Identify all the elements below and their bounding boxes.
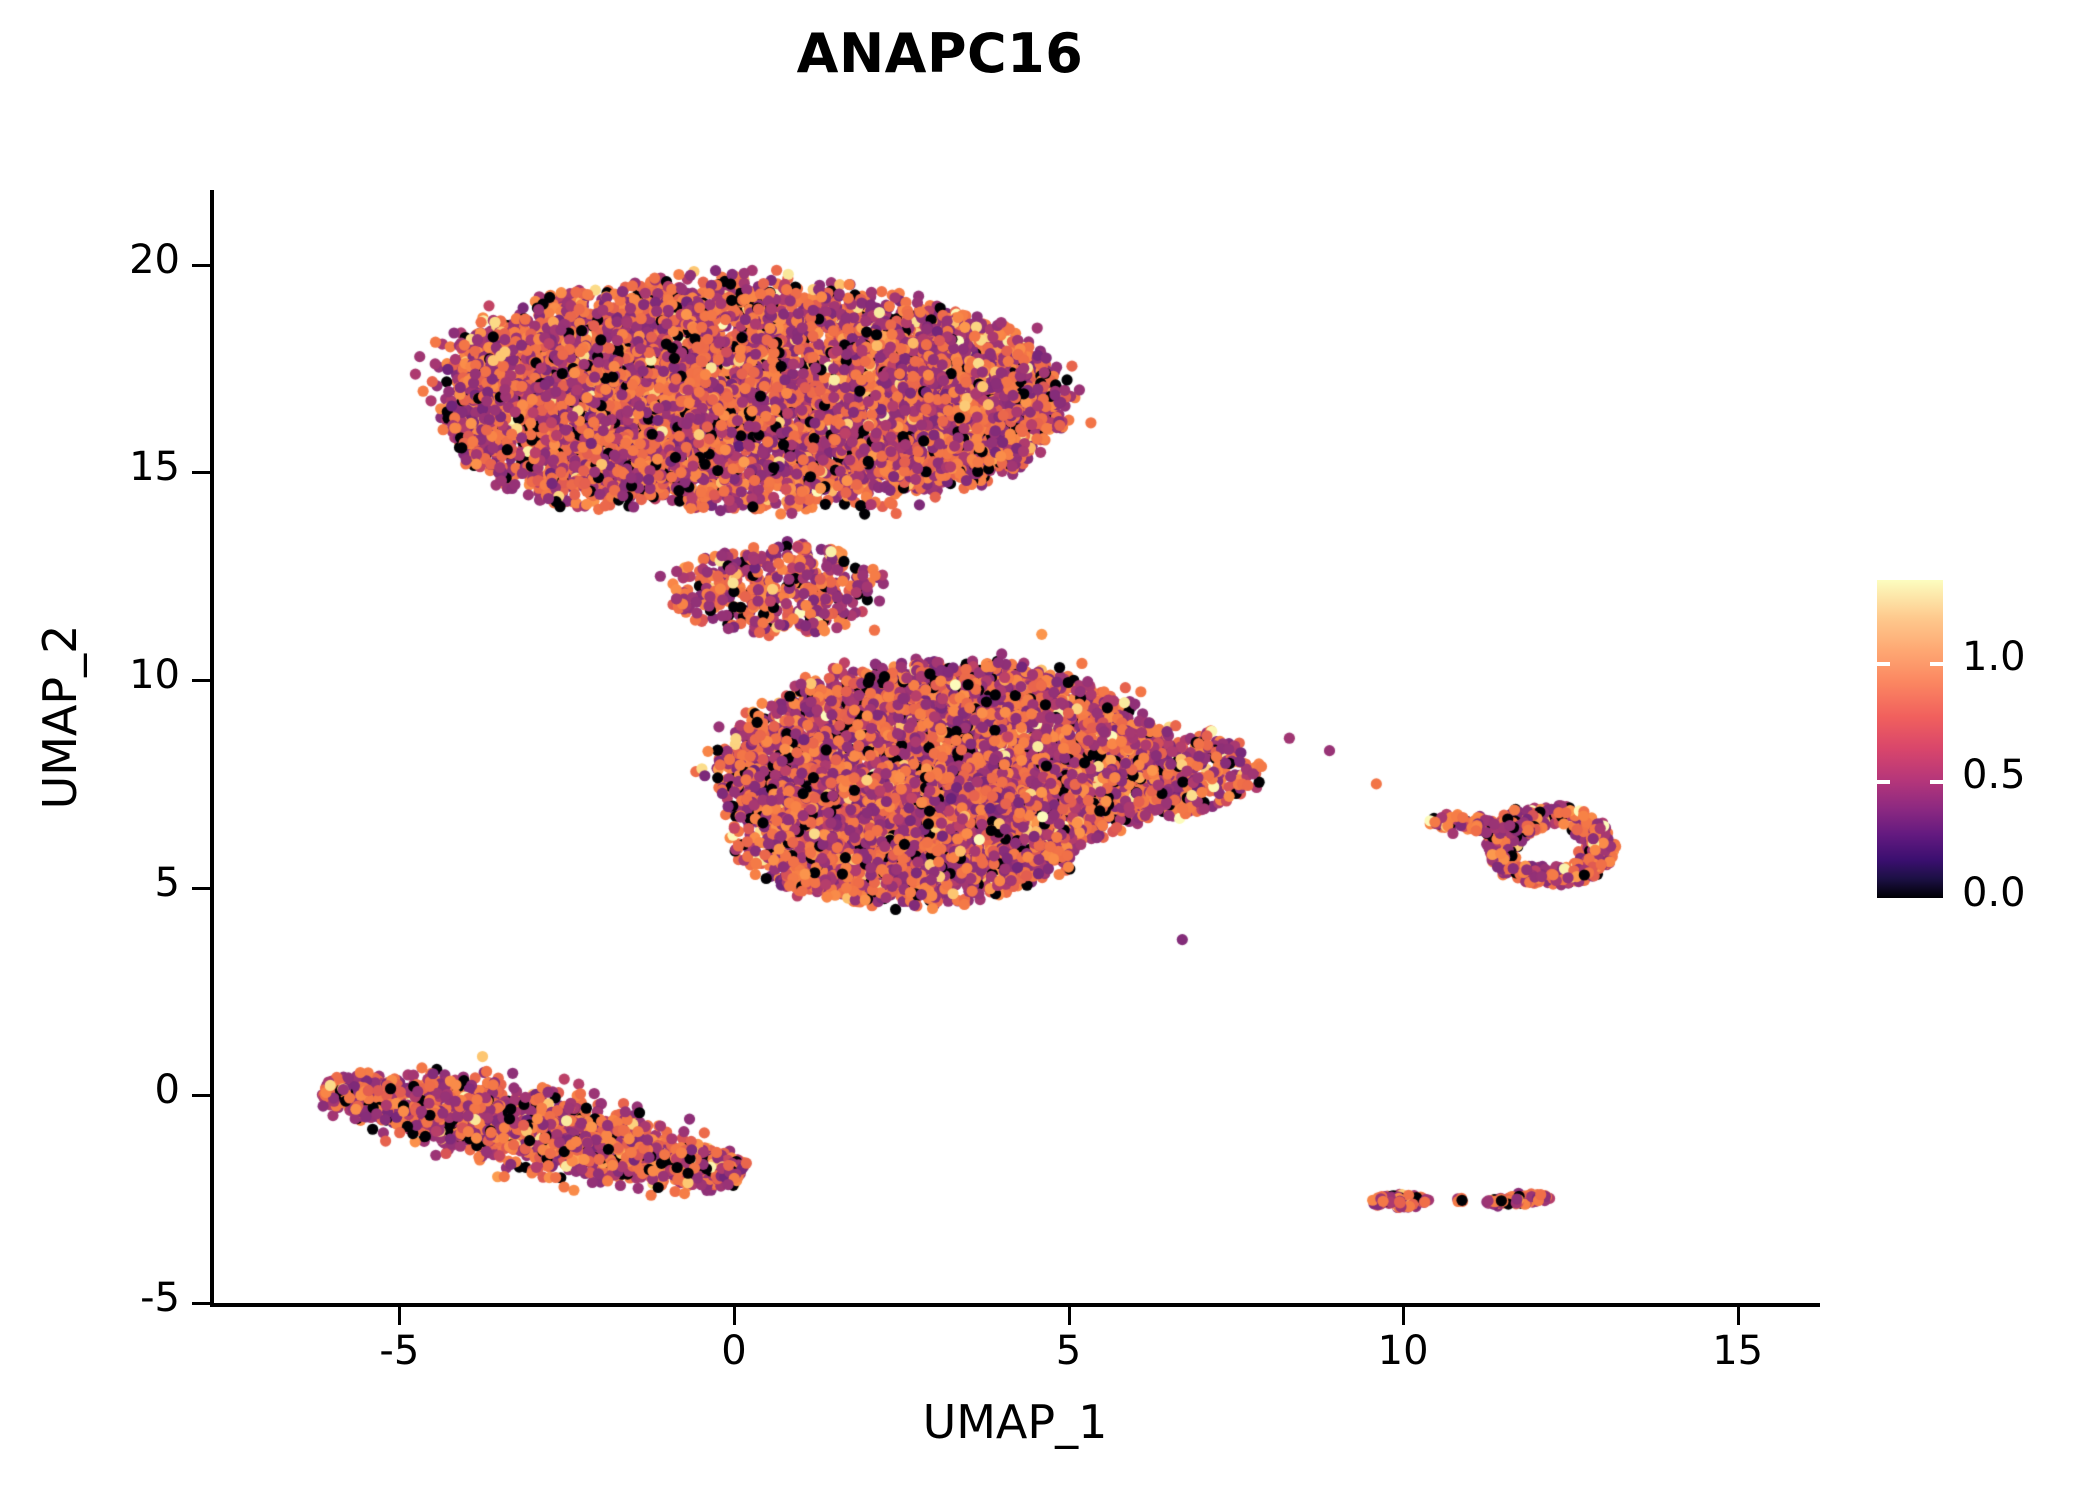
y-tick-mark bbox=[192, 1302, 210, 1305]
page-title: ANAPC16 bbox=[0, 22, 1880, 85]
scatter-plot-canvas bbox=[212, 190, 1818, 1303]
y-tick-mark bbox=[192, 1094, 210, 1097]
y-tick-label: -5 bbox=[20, 1275, 180, 1321]
colorbar-tick-label: 0.0 bbox=[1962, 870, 2026, 916]
x-tick-label: 5 bbox=[1009, 1328, 1129, 1374]
colorbar-tick-2 bbox=[1877, 780, 1943, 784]
x-tick-label: 0 bbox=[674, 1328, 794, 1374]
y-tick-mark bbox=[192, 679, 210, 682]
axis-spine-bottom bbox=[210, 1303, 1820, 1307]
colorbar-gradient bbox=[1877, 580, 1943, 898]
y-tick-mark bbox=[192, 471, 210, 474]
x-tick-mark bbox=[733, 1307, 736, 1325]
x-axis-label: UMAP_1 bbox=[210, 1395, 1820, 1449]
x-tick-mark bbox=[1737, 1307, 1740, 1325]
colorbar-tick-label: 1.0 bbox=[1962, 634, 2026, 680]
y-axis-label: UMAP_2 bbox=[33, 367, 87, 1067]
colorbar-tick-label: 0.5 bbox=[1962, 752, 2026, 798]
x-tick-mark bbox=[1402, 1307, 1405, 1325]
figure-canvas: ANAPC16 20151050-5 -5051015 UMAP_1 UMAP_… bbox=[0, 0, 2100, 1500]
x-tick-label: 15 bbox=[1678, 1328, 1798, 1374]
y-tick-label: 0 bbox=[20, 1067, 180, 1113]
x-tick-label: 10 bbox=[1343, 1328, 1463, 1374]
colorbar-tick-1 bbox=[1877, 662, 1943, 666]
colorbar bbox=[1877, 580, 1943, 898]
y-tick-label: 20 bbox=[20, 237, 180, 283]
x-tick-mark bbox=[1068, 1307, 1071, 1325]
x-tick-label: -5 bbox=[339, 1328, 459, 1374]
x-tick-mark bbox=[398, 1307, 401, 1325]
y-tick-mark bbox=[192, 887, 210, 890]
y-tick-mark bbox=[192, 264, 210, 267]
